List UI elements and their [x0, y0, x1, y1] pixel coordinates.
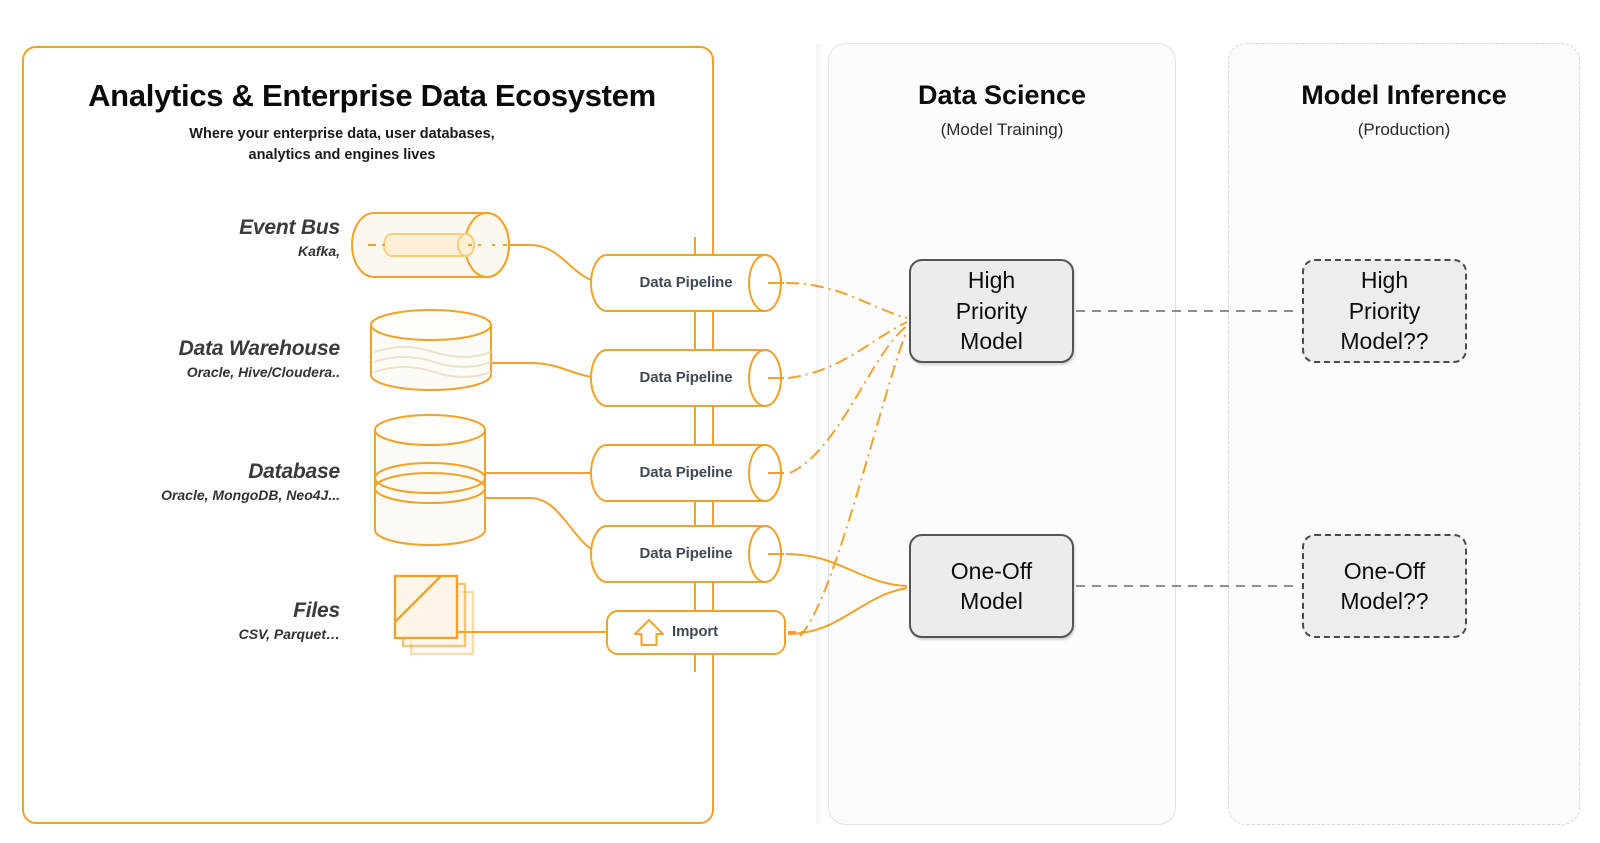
model-inference-title: Model Inference	[1228, 80, 1580, 111]
model-box-one-off-text: One-Off Model	[951, 556, 1032, 617]
inference-box-one-off[interactable]: One-Off Model??	[1302, 534, 1467, 638]
panel-data-science	[828, 43, 1176, 825]
pipeline-node-3-label: Data Pipeline	[607, 464, 765, 481]
data-science-subtitle: (Model Training)	[828, 120, 1176, 140]
model-box-high-priority-text: High Priority Model	[956, 265, 1028, 356]
source-label-event-bus: Event Bus Kafka,	[100, 215, 340, 261]
inference-line-2: Model??	[1340, 586, 1428, 616]
data-science-title: Data Science	[828, 80, 1176, 111]
inference-box-high-priority[interactable]: High Priority Model??	[1302, 259, 1467, 363]
inference-box-high-priority-text: High Priority Model??	[1340, 265, 1428, 356]
page-subtitle: Where your enterprise data, user databas…	[122, 124, 562, 166]
model-line-2: Priority	[956, 296, 1028, 326]
model-line-1: High	[956, 265, 1028, 295]
inference-line-3: Model??	[1340, 326, 1428, 356]
source-label-files: Files CSV, Parquet…	[100, 598, 340, 644]
panel-model-inference	[1228, 43, 1580, 825]
source-label-data-warehouse: Data Warehouse Oracle, Hive/Cloudera..	[100, 336, 340, 382]
model-box-one-off[interactable]: One-Off Model	[909, 534, 1074, 638]
source-name: Database	[100, 459, 340, 484]
source-sub: Oracle, MongoDB, Neo4J...	[100, 486, 340, 505]
source-sub: CSV, Parquet…	[100, 625, 340, 644]
diagram-canvas: Analytics & Enterprise Data Ecosystem Wh…	[0, 0, 1600, 843]
source-label-database: Database Oracle, MongoDB, Neo4J...	[100, 459, 340, 505]
model-box-high-priority[interactable]: High Priority Model	[909, 259, 1074, 363]
pipeline-node-4-label: Data Pipeline	[607, 545, 765, 562]
model-line-3: Model	[956, 326, 1028, 356]
inference-line-2: Priority	[1340, 296, 1428, 326]
inference-line-1: High	[1340, 265, 1428, 295]
source-name: Event Bus	[100, 215, 340, 240]
inference-box-one-off-text: One-Off Model??	[1340, 556, 1428, 617]
source-sub: Kafka,	[100, 242, 340, 261]
source-name: Data Warehouse	[100, 336, 340, 361]
page-subtitle-line2: analytics and engines lives	[122, 145, 562, 166]
source-sub: Oracle, Hive/Cloudera..	[100, 363, 340, 382]
source-name: Files	[100, 598, 340, 623]
page-title: Analytics & Enterprise Data Ecosystem	[52, 78, 692, 114]
model-line-2: Model	[951, 586, 1032, 616]
inference-line-1: One-Off	[1340, 556, 1428, 586]
pipeline-node-2-label: Data Pipeline	[607, 369, 765, 386]
model-inference-subtitle: (Production)	[1228, 120, 1580, 140]
page-subtitle-line1: Where your enterprise data, user databas…	[122, 124, 562, 145]
pipeline-node-1-label: Data Pipeline	[607, 274, 765, 291]
import-node-label: Import	[672, 623, 772, 640]
model-line-1: One-Off	[951, 556, 1032, 586]
